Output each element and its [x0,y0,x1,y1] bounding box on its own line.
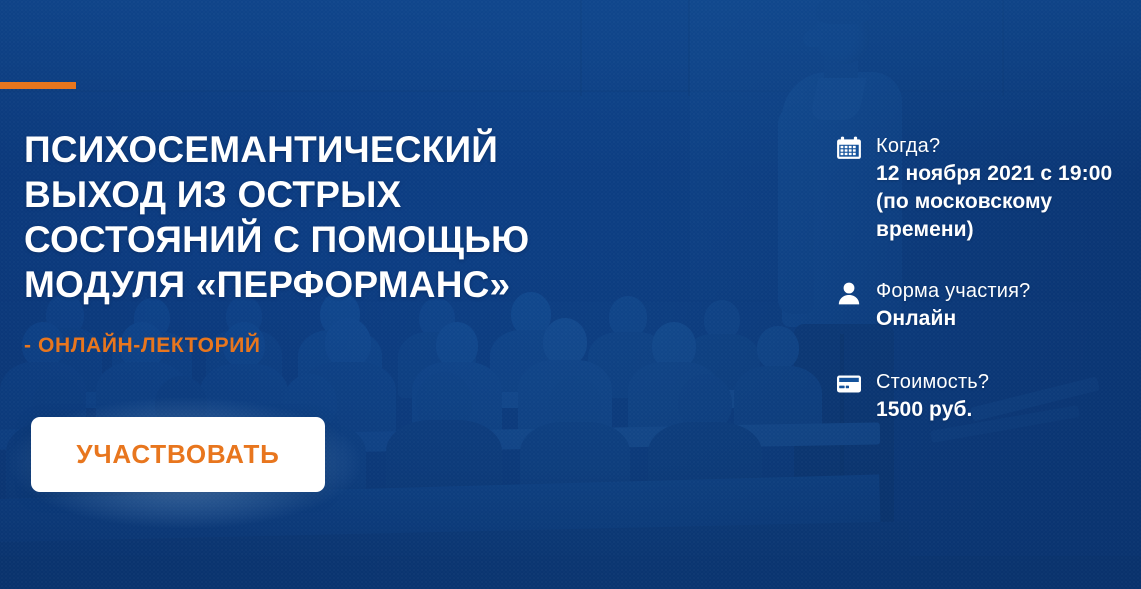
info-value-when: 12 ноября 2021 с 19:00 (по московскому в… [876,160,1126,244]
page-subtitle: - ОНЛАЙН-ЛЕКТОРИЙ [24,333,261,359]
info-value-price: 1500 руб. [876,396,1126,424]
info-label-price: Стоимость? [876,369,1126,396]
accent-bar [0,82,76,89]
info-item-when: Когда? 12 ноября 2021 с 19:00 (по москов… [836,133,1126,244]
participate-button[interactable]: УЧАСТВОВАТЬ [31,417,325,492]
info-item-format: Форма участия? Онлайн [836,278,1126,333]
credit-card-icon [836,372,862,396]
calendar-icon [836,136,862,160]
hero-content: ПСИХОСЕМАНТИЧЕСКИЙ ВЫХОД ИЗ ОСТРЫХ СОСТО… [0,0,1141,589]
page-title: ПСИХОСЕМАНТИЧЕСКИЙ ВЫХОД ИЗ ОСТРЫХ СОСТО… [24,127,624,307]
info-item-price: Стоимость? 1500 руб. [836,369,1126,424]
event-info-panel: Когда? 12 ноября 2021 с 19:00 (по москов… [836,133,1126,424]
info-label-format: Форма участия? [876,278,1126,305]
info-value-format: Онлайн [876,305,1126,333]
info-label-when: Когда? [876,133,1126,160]
person-icon [836,281,862,305]
hero-banner: ПСИХОСЕМАНТИЧЕСКИЙ ВЫХОД ИЗ ОСТРЫХ СОСТО… [0,0,1141,589]
